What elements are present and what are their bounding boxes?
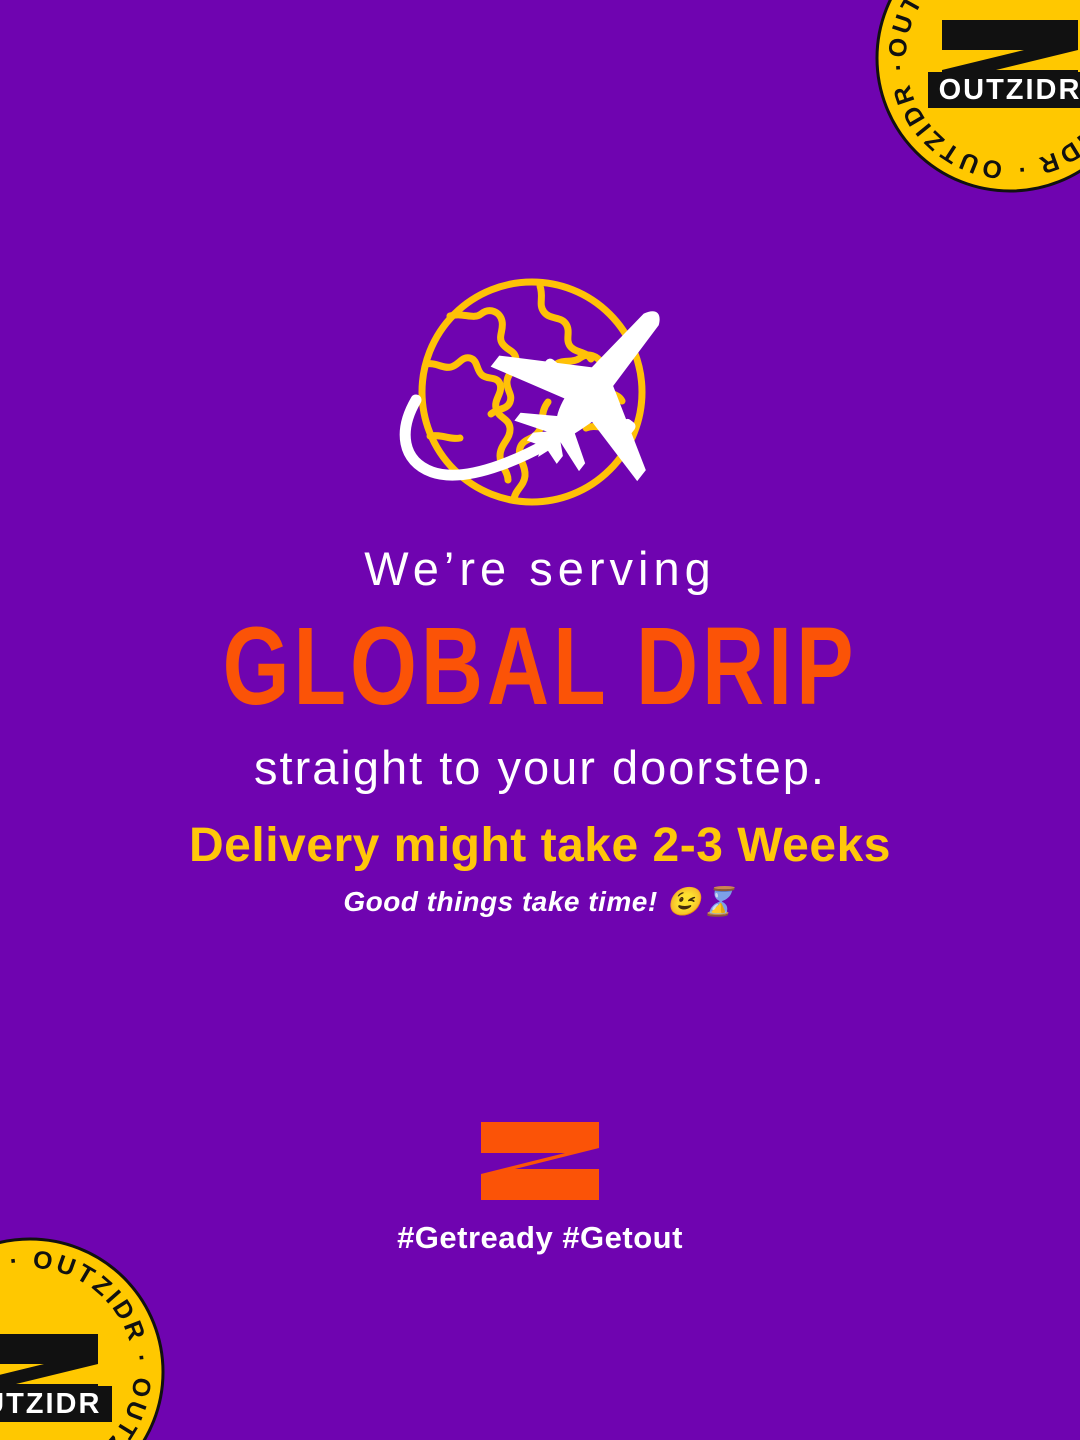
outzidr-sticker-top-right: OUTZIDR · OUTZIDR · OUTZIDR · OUTZIDR · … (874, 0, 1080, 194)
outzidr-z-logo (477, 1120, 603, 1202)
headline-post-line: straight to your doorstep. (0, 744, 1080, 791)
svg-text:OUTZIDR: OUTZIDR (939, 74, 1080, 106)
delivery-notice-text: Delivery might take 2-3 Weeks (0, 820, 1080, 873)
delivery-notice-block: Delivery might take 2-3 Weeks Good thing… (0, 820, 1080, 918)
footer-hashtags: #Getready #Getout (0, 1220, 1080, 1256)
footer-block: #Getready #Getout (0, 1120, 1080, 1256)
svg-text:OUTZIDR: OUTZIDR (0, 1388, 101, 1420)
globe-airplane-icon (350, 268, 722, 520)
badge-wordmark-tr: OUTZIDR (928, 72, 1080, 108)
delivery-subnote-text: Good things take time! 😉⌛ (0, 887, 1080, 918)
promo-poster: OUTZIDR · OUTZIDR · OUTZIDR · OUTZIDR · … (0, 0, 1080, 1440)
headline-block: We’re serving GLOBAL DRIP straight to yo… (0, 545, 1080, 791)
badge-wordmark-bl: OUTZIDR (0, 1386, 112, 1422)
outzidr-sticker-bottom-left: OUTZIDR · OUTZIDR · OUTZIDR · OUTZIDR · … (0, 1236, 166, 1440)
headline-main-line: GLOBAL DRIP (0, 612, 1080, 722)
headline-pre-line: We’re serving (0, 545, 1080, 592)
